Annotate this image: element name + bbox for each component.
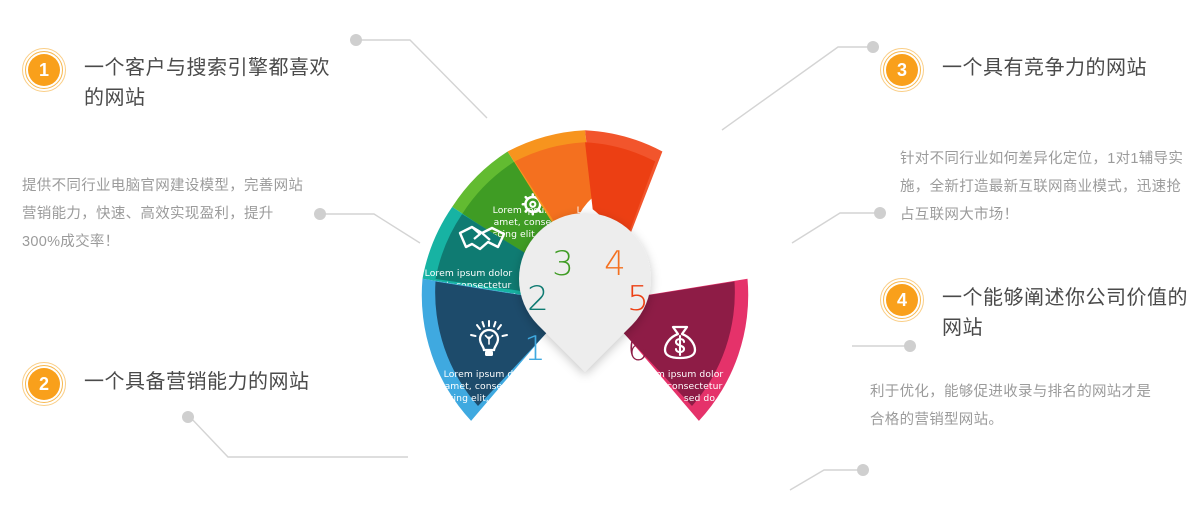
chart-segment-6-text: Lorem ipsum dolor amet, consectetur scin… <box>635 369 726 404</box>
connector-dot-1 <box>350 34 362 46</box>
callout-4[interactable]: 4 一个能够阐述你公司价值的网站 <box>880 278 1200 343</box>
badge-3: 3 <box>880 48 924 92</box>
connector-dot-3 <box>182 411 194 423</box>
callout-1[interactable]: 1 一个客户与搜索引擎都喜欢的网站 <box>22 48 344 113</box>
badge-4: 4 <box>880 278 924 322</box>
callout-3[interactable]: 3 一个具有竞争力的网站 <box>880 48 1147 92</box>
badge-number-4: 4 <box>886 284 918 316</box>
callout-1-title: 一个客户与搜索引擎都喜欢的网站 <box>84 48 344 113</box>
infographic-canvas: Lorem ipsum dolor amet, consectetur scin… <box>0 0 1200 520</box>
callout-1-body: 提供不同行业电脑官网建设模型，完善网站营销能力，快速、高效实现盈利，提升300%… <box>22 172 307 256</box>
callout-3-title: 一个具有竞争力的网站 <box>942 48 1147 83</box>
semi-donut-chart: Lorem ipsum dolor amet, consectetur scin… <box>370 95 830 495</box>
connector-dot-4 <box>867 41 879 53</box>
callout-4-body: 利于优化，能够促进收录与排名的网站才是合格的营销型网站。 <box>870 378 1155 434</box>
callout-2-head: 2 一个具备营销能力的网站 <box>22 362 310 406</box>
center-number-4: 4 <box>604 244 626 284</box>
badge-1: 1 <box>22 48 66 92</box>
connector-dot-7 <box>857 464 869 476</box>
callout-3-head: 3 一个具有竞争力的网站 <box>880 48 1147 92</box>
badge-number-3: 3 <box>886 54 918 86</box>
chart-segment-1-text: Lorem ipsum dolor amet, consectetur scin… <box>443 369 534 404</box>
callout-4-head: 4 一个能够阐述你公司价值的网站 <box>880 278 1200 343</box>
center-number-2: 2 <box>527 279 549 319</box>
badge-number-1: 1 <box>28 54 60 86</box>
center-number-5: 5 <box>627 279 649 319</box>
connector-dot-5 <box>874 207 886 219</box>
badge-number-2: 2 <box>28 368 60 400</box>
callout-3-body: 针对不同行业如何差异化定位，1对1辅导实施，全新打造最新互联网商业模式，迅速抢占… <box>900 145 1185 229</box>
badge-2: 2 <box>22 362 66 406</box>
center-number-1: 1 <box>524 329 546 369</box>
callout-4-title: 一个能够阐述你公司价值的网站 <box>942 278 1200 343</box>
center-number-3: 3 <box>552 244 574 284</box>
callout-2[interactable]: 2 一个具备营销能力的网站 <box>22 362 310 406</box>
stopwatch-icon <box>682 222 707 252</box>
center-number-6: 6 <box>627 329 649 369</box>
callout-1-head: 1 一个客户与搜索引擎都喜欢的网站 <box>22 48 344 113</box>
connector-dot-2 <box>314 208 326 220</box>
callout-2-title: 一个具备营销能力的网站 <box>84 362 310 397</box>
